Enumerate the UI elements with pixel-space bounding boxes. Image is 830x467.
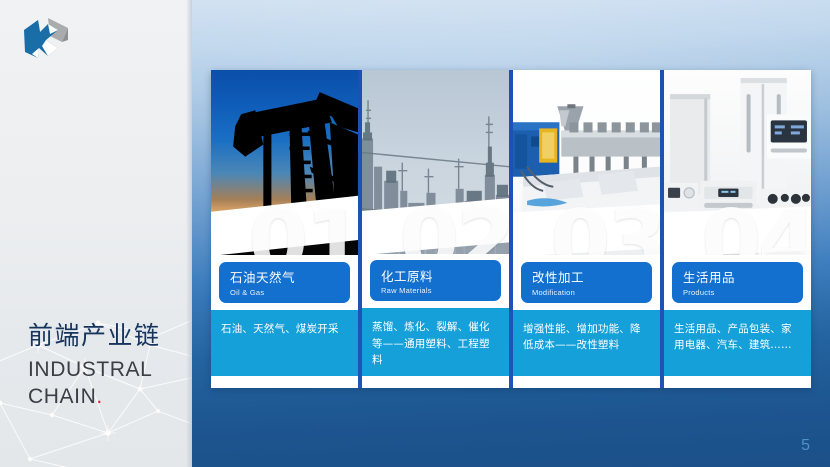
card-description: 蒸馏、炼化、裂解、催化等——通用塑料、工程塑料 <box>362 308 509 376</box>
main-content-area: 01 石油天然气 Oil & Gas 石油、天然气、煤炭开采 <box>192 0 830 467</box>
company-k-logo-icon[interactable] <box>18 14 72 62</box>
card-title-chinese: 化工原料 <box>381 270 490 284</box>
card-title-english: Raw Materials <box>381 286 490 296</box>
chain-card-3[interactable]: 03 改性加工 Modification 增强性能、增加功能、降低成本——改性塑… <box>513 70 660 388</box>
card-title-chinese: 生活用品 <box>683 271 792 285</box>
heading-chinese: 前端产业链 <box>28 322 192 351</box>
card-title-chinese: 改性加工 <box>532 271 641 285</box>
card-bottom-strip <box>362 376 509 388</box>
industry-chain-card-panel: 01 石油天然气 Oil & Gas 石油、天然气、煤炭开采 <box>211 70 811 388</box>
card-description: 石油、天然气、煤炭开采 <box>211 310 358 376</box>
heading-english-line-2: CHAIN. <box>28 384 192 411</box>
card-label-zone: 改性加工 Modification <box>513 255 660 310</box>
card-title-english: Oil & Gas <box>230 288 339 298</box>
chain-card-1[interactable]: 01 石油天然气 Oil & Gas 石油、天然气、煤炭开采 <box>211 70 358 388</box>
card-description: 增强性能、增加功能、降低成本——改性塑料 <box>513 310 660 376</box>
card-number-watermark: 03 <box>550 199 660 255</box>
card-bottom-strip <box>664 376 811 388</box>
plastic-extruder-machine-photo: 03 <box>513 70 660 255</box>
page-number: 5 <box>801 437 810 455</box>
card-description: 生活用品、产品包装、家用电器、汽车、建筑…… <box>664 310 811 376</box>
card-number-watermark: 02 <box>399 198 509 254</box>
card-title-pill[interactable]: 化工原料 Raw Materials <box>370 260 501 301</box>
card-bottom-strip <box>211 376 358 388</box>
petrochemical-refinery-photo: 02 <box>362 70 509 254</box>
card-title-pill[interactable]: 改性加工 Modification <box>521 262 652 303</box>
sidebar-heading-group: 前端产业链 INDUSTRAL CHAIN. <box>28 322 192 411</box>
oil-pumpjack-photo: 01 <box>211 70 358 255</box>
card-label-zone: 化工原料 Raw Materials <box>362 254 509 309</box>
slide-canvas: 前端产业链 INDUSTRAL CHAIN. <box>0 0 830 467</box>
heading-red-dot: . <box>96 385 102 408</box>
card-number-watermark: 04 <box>701 199 811 255</box>
card-title-chinese: 石油天然气 <box>230 271 339 285</box>
card-title-pill[interactable]: 生活用品 Products <box>672 262 803 303</box>
card-bottom-strip <box>513 376 660 388</box>
chain-card-4[interactable]: 04 生活用品 Products 生活用品、产品包装、家用电器、汽车、建筑…… <box>664 70 811 388</box>
card-title-english: Modification <box>532 288 641 298</box>
heading-english-line-1: INDUSTRAL <box>28 357 192 384</box>
card-label-zone: 生活用品 Products <box>664 255 811 310</box>
home-appliances-photo: 04 <box>664 70 811 255</box>
heading-english-word: CHAIN <box>28 385 96 408</box>
card-label-zone: 石油天然气 Oil & Gas <box>211 255 358 310</box>
chain-card-2[interactable]: 02 化工原料 Raw Materials 蒸馏、炼化、裂解、催化等——通用塑料… <box>362 70 509 388</box>
card-title-pill[interactable]: 石油天然气 Oil & Gas <box>219 262 350 303</box>
card-title-english: Products <box>683 288 792 298</box>
left-sidebar: 前端产业链 INDUSTRAL CHAIN. <box>0 0 192 467</box>
card-number-watermark: 01 <box>248 199 358 255</box>
